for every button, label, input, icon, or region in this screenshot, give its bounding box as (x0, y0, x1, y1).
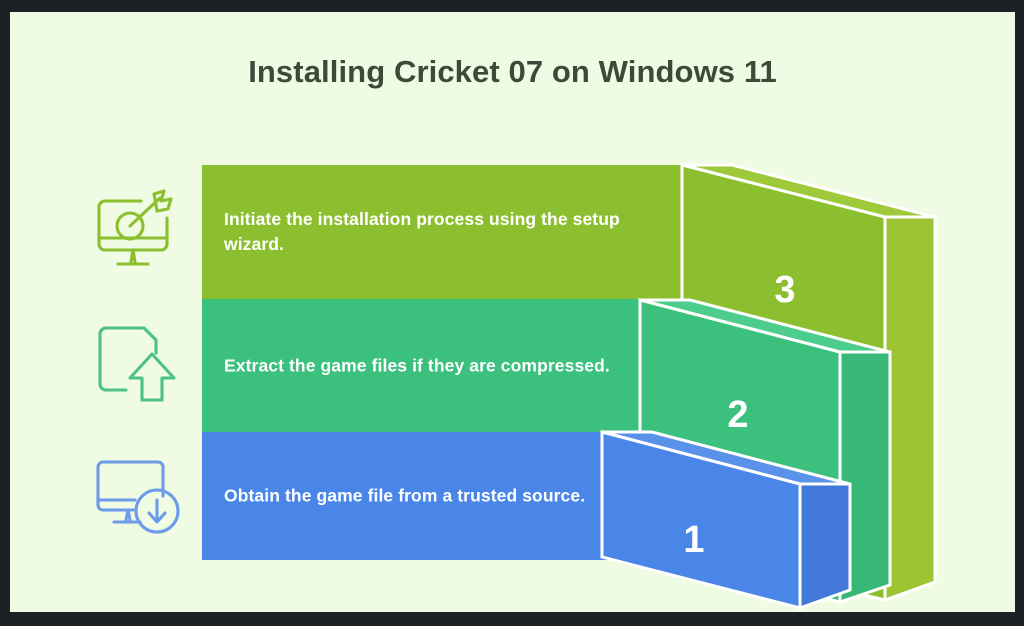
step-3-number: 3 (774, 269, 795, 311)
step-2-number: 2 (727, 394, 748, 436)
step-3-side-face (885, 217, 935, 600)
file-upload-icon (82, 317, 194, 413)
step-band-1: Obtain the game file from a trusted sour… (202, 432, 660, 560)
image-frame: Installing Cricket 07 on Windows 11 Init… (0, 0, 1024, 626)
step-2-text: Extract the game files if they are compr… (224, 353, 644, 378)
step-band-3: Initiate the installation process using … (202, 165, 739, 299)
step-3-text: Initiate the installation process using … (224, 207, 644, 257)
step-1-text: Obtain the game file from a trusted sour… (224, 484, 644, 509)
infographic-canvas: Installing Cricket 07 on Windows 11 Init… (10, 12, 1015, 612)
page-title: Installing Cricket 07 on Windows 11 (10, 54, 1015, 90)
monitor-download-icon (82, 448, 194, 544)
step-1-side-face (800, 484, 850, 608)
step-2-side-face (840, 352, 890, 602)
step-1-number: 1 (683, 519, 704, 561)
monitor-target-icon (82, 184, 194, 280)
step-band-2: Extract the game files if they are compr… (202, 299, 697, 432)
